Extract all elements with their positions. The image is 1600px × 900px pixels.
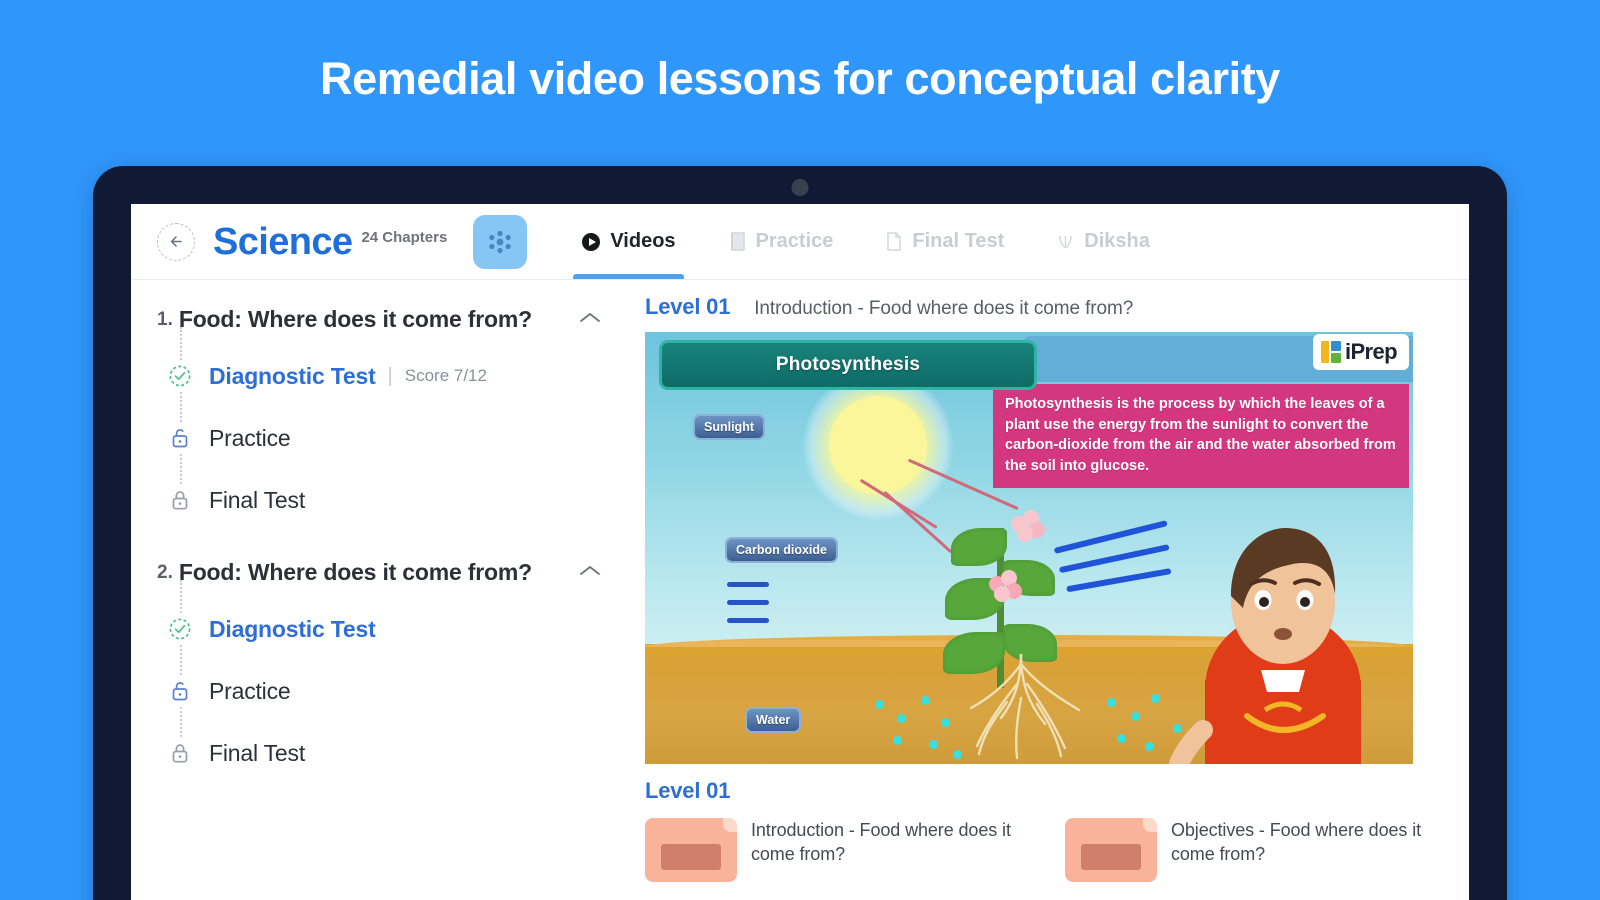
node-separator: | bbox=[388, 365, 393, 388]
level-list-title: Level 01 bbox=[645, 778, 1469, 804]
list-item[interactable]: Final Test bbox=[165, 722, 601, 784]
co2-arrow bbox=[727, 600, 769, 605]
level-tag: Level 01 bbox=[645, 294, 730, 320]
video-thumbnail[interactable] bbox=[1065, 818, 1157, 882]
list-item[interactable]: Practice bbox=[165, 407, 601, 469]
check-circle-icon bbox=[165, 361, 195, 391]
tab-final-test[interactable]: Final Test bbox=[859, 204, 1030, 279]
list-item[interactable]: Practice bbox=[165, 660, 601, 722]
chapter-header-1[interactable]: 1. Food: Where does it come from? bbox=[157, 296, 601, 337]
co2-arrow bbox=[727, 582, 769, 587]
label-water: Water bbox=[745, 707, 801, 733]
sun-illustration bbox=[803, 370, 953, 520]
student-character bbox=[1165, 484, 1395, 764]
locked-lock-icon bbox=[165, 738, 195, 768]
app-body: 1. Food: Where does it come from? bbox=[131, 280, 1469, 900]
label-sunlight: Sunlight bbox=[693, 414, 765, 440]
level-description: Introduction - Food where does it come f… bbox=[754, 298, 1133, 320]
diagnostic-score: Score 7/12 bbox=[405, 366, 487, 386]
node-label-final-test: Final Test bbox=[209, 487, 305, 514]
subject-title: Science bbox=[213, 223, 352, 261]
video-card-title: Objectives - Food where does it come fro… bbox=[1171, 818, 1435, 882]
list-item[interactable]: Diagnostic Test bbox=[165, 598, 601, 660]
video-card-title: Introduction - Food where does it come f… bbox=[751, 818, 1015, 882]
app-screen: Science 24 Chapters bbox=[131, 204, 1469, 900]
chapter-header-2[interactable]: 2. Food: Where does it come from? bbox=[157, 549, 601, 590]
chapter-section: 2. Food: Where does it come from? bbox=[131, 549, 627, 784]
video-player[interactable]: Sunlight Carbon dioxide Water Photosynth… bbox=[645, 332, 1413, 764]
level-video-list: Level 01 Introduction - Food where does … bbox=[645, 778, 1469, 882]
chapter-node-list: Diagnostic Test | Score 7/12 bbox=[157, 337, 601, 531]
plant-flower bbox=[989, 570, 1023, 604]
atom-icon[interactable] bbox=[473, 215, 527, 269]
chapter-number: 1. bbox=[157, 309, 173, 331]
locked-lock-icon bbox=[165, 485, 195, 515]
video-card[interactable]: Objectives - Food where does it come fro… bbox=[1065, 818, 1435, 882]
iprep-logo: iPrep bbox=[1313, 334, 1409, 370]
tab-diksha[interactable]: Diksha bbox=[1030, 204, 1176, 279]
notebook-icon bbox=[728, 231, 747, 252]
check-circle-icon bbox=[165, 614, 195, 644]
chapter-section: 1. Food: Where does it come from? bbox=[131, 296, 627, 531]
chapter-sidebar[interactable]: 1. Food: Where does it come from? bbox=[131, 280, 627, 900]
node-label-diagnostic-test: Diagnostic Test bbox=[209, 616, 376, 643]
diksha-icon bbox=[1056, 232, 1075, 251]
level-header: Level 01 Introduction - Food where does … bbox=[645, 294, 1469, 320]
video-title-banner: Photosynthesis bbox=[659, 340, 1037, 390]
play-circle-icon bbox=[581, 232, 601, 252]
plant-flower bbox=[1011, 510, 1045, 544]
page-title: Remedial video lessons for conceptual cl… bbox=[0, 52, 1600, 106]
tab-diksha-label: Diksha bbox=[1084, 230, 1150, 253]
document-icon bbox=[885, 231, 903, 252]
chapter-title: Food: Where does it come from? bbox=[179, 559, 565, 586]
co2-arrow bbox=[727, 618, 769, 623]
back-arrow-icon[interactable] bbox=[157, 223, 195, 261]
app-topbar: Science 24 Chapters bbox=[131, 204, 1469, 280]
iprep-mark-icon bbox=[1321, 341, 1341, 363]
node-label-diagnostic-test: Diagnostic Test bbox=[209, 363, 376, 390]
list-item[interactable]: Diagnostic Test | Score 7/12 bbox=[165, 345, 601, 407]
lesson-content: Level 01 Introduction - Food where does … bbox=[627, 280, 1469, 900]
tab-practice-label: Practice bbox=[756, 230, 834, 253]
video-info-panel: Photosynthesis is the process by which t… bbox=[993, 384, 1409, 488]
chevron-up-icon[interactable] bbox=[565, 311, 601, 329]
plant-roots bbox=[937, 654, 1107, 764]
tab-bar: Videos Practice bbox=[555, 204, 1176, 279]
label-carbon-dioxide: Carbon dioxide bbox=[725, 537, 838, 563]
unlocked-lock-icon bbox=[165, 676, 195, 706]
camera-dot-icon bbox=[792, 179, 809, 196]
chevron-up-icon[interactable] bbox=[565, 564, 601, 582]
tab-final-test-label: Final Test bbox=[912, 230, 1004, 253]
chapter-number: 2. bbox=[157, 562, 173, 584]
node-label-practice: Practice bbox=[209, 425, 290, 452]
video-thumbnail[interactable] bbox=[645, 818, 737, 882]
list-item[interactable]: Final Test bbox=[165, 469, 601, 531]
tab-videos-label: Videos bbox=[610, 230, 675, 253]
tab-practice[interactable]: Practice bbox=[702, 204, 860, 279]
node-label-final-test: Final Test bbox=[209, 740, 305, 767]
chapter-title: Food: Where does it come from? bbox=[179, 306, 565, 333]
chapter-node-list: Diagnostic Test Practic bbox=[157, 590, 601, 784]
tablet-device-frame: Science 24 Chapters bbox=[93, 166, 1507, 900]
video-card-row: Introduction - Food where does it come f… bbox=[645, 818, 1469, 882]
iprep-wordmark: iPrep bbox=[1345, 339, 1397, 365]
node-label-practice: Practice bbox=[209, 678, 290, 705]
tab-videos[interactable]: Videos bbox=[555, 204, 701, 279]
chapter-count-label: 24 Chapters bbox=[361, 229, 447, 246]
unlocked-lock-icon bbox=[165, 423, 195, 453]
video-card[interactable]: Introduction - Food where does it come f… bbox=[645, 818, 1015, 882]
